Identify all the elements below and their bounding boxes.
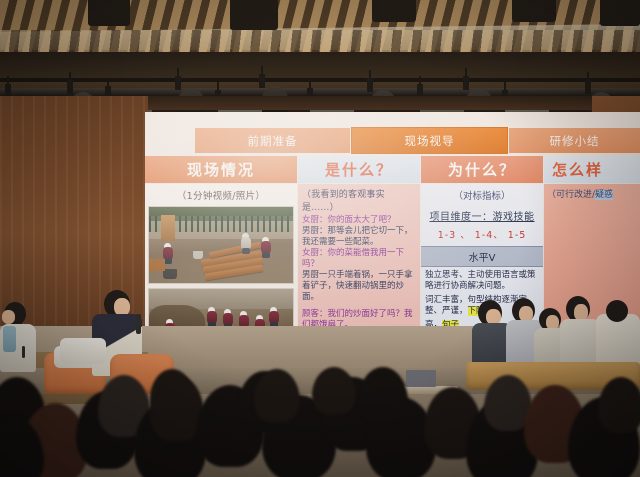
slide-tab-row: 前期准备 现场视导 研修小结	[145, 128, 640, 153]
column-what-subtitle: （我看到的客观事实是……）	[298, 184, 420, 215]
hanging-fixture-box	[372, 0, 416, 22]
photo-bucket	[163, 269, 177, 279]
audience-head	[598, 377, 640, 433]
moderator-microphone	[22, 346, 25, 358]
chair-cushion-center	[60, 338, 106, 364]
audience-rows	[0, 381, 640, 477]
presenter-microphone	[136, 314, 141, 334]
slide-tab-preparation[interactable]: 前期准备	[195, 128, 350, 153]
column-header-how: 怎么样	[544, 156, 640, 183]
column-header-why: 为什么？	[421, 156, 543, 183]
dialogue-line: 女厨：你的面太大了吧？	[302, 215, 416, 226]
highlight-text-blue: 疑惑	[595, 190, 613, 200]
lighting-truss-upper-bar	[0, 78, 640, 82]
panelist-head	[606, 300, 628, 322]
hanging-fixture-box	[230, 0, 278, 30]
hanging-fixture-box	[88, 0, 130, 26]
column-header-situation: 现场情况	[145, 156, 297, 183]
slide-photo-planks	[148, 206, 294, 284]
project-dimension-label: 项目维度一：游戏技能	[421, 204, 543, 223]
hanging-fixture-box	[600, 0, 640, 26]
hanging-fixture-box	[512, 0, 556, 22]
criteria-paragraph: 独立思考、主动使用语言或策略进行协商解决问题。	[421, 267, 543, 292]
indicator-codes: 1-3 、 1-4、 1-5	[421, 223, 543, 246]
column-how-subtitle: （可行改进/疑惑	[544, 184, 640, 203]
dialogue-line: 男厨一只手端着锅，一只手拿着铲子，快速翻动锅里的炒面。	[302, 270, 416, 303]
column-header-what: 是什么？	[298, 156, 420, 183]
ceiling-dark-band	[0, 52, 640, 78]
column-why-subtitle: （对标指标）	[421, 184, 543, 204]
slide-tab-summary[interactable]: 研修小结	[509, 128, 640, 153]
photo-bucket	[193, 251, 203, 259]
level-badge: 水平V	[421, 246, 543, 267]
stage-moderator	[0, 302, 40, 372]
column-situation-subtitle: （1分钟视频/照片）	[145, 184, 297, 205]
slide-column-headers: 现场情况 是什么？ 为什么？ 怎么样	[145, 156, 640, 183]
screenshot-scene: 前期准备 现场视导 研修小结 现场情况 是什么？ 为什么？ 怎么样 （1分钟视频…	[0, 0, 640, 477]
dialogue-line: 男厨：那等会儿把它切一下，我还需要一些配菜。	[302, 226, 416, 248]
dialogue-line: 女厨：你的菜能借我用一下吗？	[302, 248, 416, 270]
moderator-face	[2, 310, 15, 324]
slide-tab-onsite-guidance[interactable]: 现场视导	[352, 128, 507, 153]
